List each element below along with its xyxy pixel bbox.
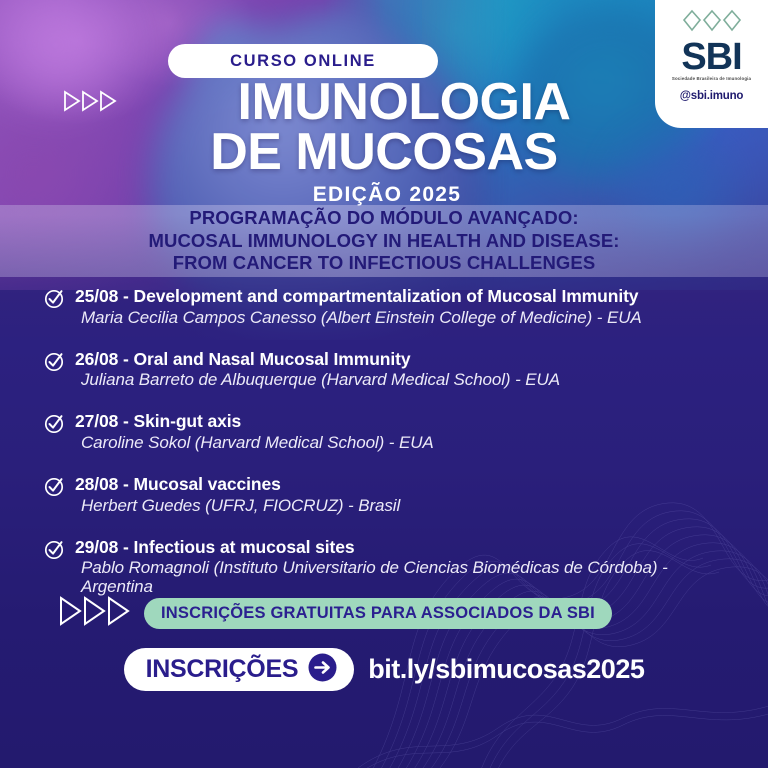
registration-url[interactable]: bit.ly/sbimucosas2025 [368, 654, 644, 685]
schedule-title: 27/08 - Skin-gut axis [75, 411, 738, 432]
list-item: 29/08 - Infectious at mucosal sites Pabl… [44, 537, 738, 597]
program-banner-line-1: PROGRAMAÇÃO DO MÓDULO AVANÇADO: [189, 207, 578, 230]
triple-triangle-arrows-icon [58, 594, 134, 633]
check-circle-icon [44, 351, 65, 377]
check-circle-icon [44, 288, 65, 314]
schedule-list: 25/08 - Development and compartmentaliza… [44, 286, 738, 596]
sbi-social-handle: @sbi.imuno [680, 90, 744, 102]
program-banner-line-2: MUCOSAL IMMUNOLOGY IN HEALTH AND DISEASE… [148, 230, 619, 253]
sbi-acronym: SBI [681, 39, 741, 75]
three-diamonds-icon [681, 9, 743, 38]
schedule-speaker: Juliana Barreto de Albuquerque (Harvard … [75, 370, 738, 389]
schedule-title: 28/08 - Mucosal vaccines [75, 474, 738, 495]
free-registration-label: INSCRIÇÕES GRATUITAS PARA ASSOCIADOS DA … [161, 604, 595, 623]
registration-button-label: INSCRIÇÕES [146, 655, 299, 684]
free-registration-callout: INSCRIÇÕES GRATUITAS PARA ASSOCIADOS DA … [58, 594, 612, 633]
list-item: 25/08 - Development and compartmentaliza… [44, 286, 738, 327]
schedule-speaker: Pablo Romagnoli (Instituto Universitario… [75, 558, 738, 596]
course-type-badge: CURSO ONLINE [168, 44, 438, 78]
schedule-speaker: Caroline Sokol (Harvard Medical School) … [75, 433, 738, 452]
schedule-title: 29/08 - Infectious at mucosal sites [75, 537, 738, 558]
program-banner-line-3: FROM CANCER TO INFECTIOUS CHALLENGES [173, 252, 596, 275]
list-item: 28/08 - Mucosal vaccines Herbert Guedes … [44, 474, 738, 515]
schedule-speaker: Maria Cecilia Campos Canesso (Albert Ein… [75, 308, 738, 327]
schedule-title: 26/08 - Oral and Nasal Mucosal Immunity [75, 349, 738, 370]
list-item: 27/08 - Skin-gut axis Caroline Sokol (Ha… [44, 411, 738, 452]
schedule-title: 25/08 - Development and compartmentaliza… [75, 286, 738, 307]
program-banner: PROGRAMAÇÃO DO MÓDULO AVANÇADO: MUCOSAL … [0, 205, 768, 277]
sbi-logo-card: SBI Sociedade Brasileira de Imunologia @… [655, 0, 768, 128]
triple-triangle-arrows-icon [63, 88, 119, 119]
course-type-badge-label: CURSO ONLINE [230, 52, 376, 71]
sbi-tagline: Sociedade Brasileira de Imunologia [672, 76, 751, 81]
registration-button[interactable]: INSCRIÇÕES [124, 648, 355, 691]
check-circle-icon [44, 476, 65, 502]
check-circle-icon [44, 413, 65, 439]
promo-poster: SBI Sociedade Brasileira de Imunologia @… [0, 0, 768, 768]
schedule-speaker: Herbert Guedes (UFRJ, FIOCRUZ) - Brasil [75, 496, 738, 515]
check-circle-icon [44, 539, 65, 565]
list-item: 26/08 - Oral and Nasal Mucosal Immunity … [44, 349, 738, 390]
arrow-right-circle-icon [307, 652, 338, 688]
free-registration-pill: INSCRIÇÕES GRATUITAS PARA ASSOCIADOS DA … [144, 598, 612, 629]
registration-link-row[interactable]: INSCRIÇÕES bit.ly/sbimucosas2025 [0, 648, 768, 691]
